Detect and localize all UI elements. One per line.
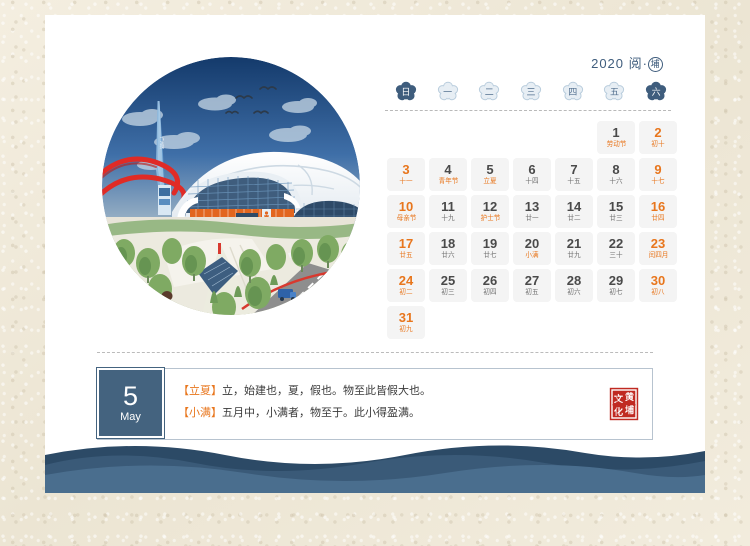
day-number: 1: [612, 126, 619, 140]
day-number: 18: [441, 237, 455, 251]
day-number: 25: [441, 274, 455, 288]
day-cell[interactable]: 13廿一: [513, 195, 551, 228]
day-number: 9: [654, 163, 661, 177]
day-sublabel: 廿二: [567, 214, 580, 222]
day-number: 17: [399, 237, 413, 251]
day-sublabel: 小满: [525, 251, 538, 259]
day-number: 13: [525, 200, 539, 214]
blossom-badge-icon: 五: [602, 81, 626, 104]
day-cell-empty: [471, 121, 509, 154]
day-cell[interactable]: 31初九: [387, 306, 425, 339]
day-number: 15: [609, 200, 623, 214]
cityscape-illustration: 广州塔: [102, 57, 360, 315]
day-cell-empty: [513, 121, 551, 154]
svg-text:埔: 埔: [625, 404, 634, 415]
day-sublabel: 十四: [525, 177, 538, 185]
wave-decoration: [45, 433, 705, 493]
day-cell[interactable]: 20小满: [513, 232, 551, 265]
day-cell-empty: [387, 121, 425, 154]
day-number: 11: [441, 200, 455, 214]
day-sublabel: 廿九: [567, 251, 580, 259]
day-number: 8: [612, 163, 619, 177]
day-sublabel: 廿三: [609, 214, 622, 222]
day-number: 28: [567, 274, 581, 288]
day-number: 16: [651, 200, 665, 214]
day-sublabel: 初二: [399, 288, 412, 296]
day-sublabel: 母亲节: [396, 214, 416, 222]
weekday-header-friday: 五: [596, 79, 634, 105]
day-cell[interactable]: 11十九: [429, 195, 467, 228]
day-cell[interactable]: 16廿四: [639, 195, 677, 228]
day-number: 2: [654, 126, 661, 140]
day-cell[interactable]: 15廿三: [597, 195, 635, 228]
day-number: 4: [444, 163, 451, 177]
weekday-header-monday: 一: [429, 79, 467, 105]
day-sublabel: 十七: [651, 177, 664, 185]
day-cell[interactable]: 28初六: [555, 269, 593, 302]
svg-text:黄: 黄: [625, 391, 634, 402]
day-sublabel: 十五: [567, 177, 580, 185]
day-sublabel: 立夏: [483, 177, 496, 185]
day-cell[interactable]: 2初十: [639, 121, 677, 154]
weekday-header-thursday: 四: [554, 79, 592, 105]
day-sublabel: 廿一: [525, 214, 538, 222]
day-cell[interactable]: 25初三: [429, 269, 467, 302]
note-body: 五月中，小满者，物至于。此小得盈满。: [222, 407, 420, 419]
blossom-badge-icon: 六: [644, 81, 668, 104]
day-number: 31: [399, 311, 413, 325]
weekday-header-wednesday: 三: [512, 79, 550, 105]
day-number: 30: [651, 274, 665, 288]
day-cell[interactable]: 12护士节: [471, 195, 509, 228]
weekday-label: 二: [485, 88, 494, 97]
day-number: 26: [483, 274, 497, 288]
weekday-label: 五: [610, 88, 619, 97]
weekday-label: 三: [527, 88, 536, 97]
day-cell-empty: [555, 121, 593, 154]
note-term: 【立夏】: [178, 385, 222, 397]
svg-text:文: 文: [613, 393, 624, 404]
note-text-container: 【立夏】立，始建也，夏，假也。物至此皆假大也。【小满】五月中，小满者，物至于。此…: [164, 369, 596, 439]
blossom-badge-icon: 一: [436, 81, 460, 104]
day-sublabel: 初七: [609, 288, 622, 296]
day-sublabel: 廿六: [441, 251, 454, 259]
calendar-card: 广州塔: [45, 15, 705, 493]
day-sublabel: 十九: [441, 214, 454, 222]
note-line: 【立夏】立，始建也，夏，假也。物至此皆假大也。: [178, 380, 596, 402]
day-cell[interactable]: 10母亲节: [387, 195, 425, 228]
day-number: 29: [609, 274, 623, 288]
year-char-2: 埔: [648, 57, 663, 72]
month-block: 5 May: [97, 368, 164, 438]
blossom-badge-icon: 二: [477, 81, 501, 104]
year-label: 2020 阅·埔: [385, 55, 675, 73]
day-sublabel: 初八: [651, 288, 664, 296]
month-number: 5: [123, 383, 138, 410]
day-cell[interactable]: 18廿六: [429, 232, 467, 265]
day-sublabel: 护士节: [480, 214, 500, 222]
day-sublabel: 初五: [525, 288, 538, 296]
day-cell[interactable]: 5立夏: [471, 158, 509, 191]
day-cell[interactable]: 6十四: [513, 158, 551, 191]
day-number: 5: [486, 163, 493, 177]
day-sublabel: 廿五: [399, 251, 412, 259]
weekday-label: 六: [652, 88, 661, 97]
seal-stamp: 文 黄 化 埔: [596, 369, 652, 439]
year-number: 2020: [591, 56, 624, 71]
day-cell[interactable]: 9十七: [639, 158, 677, 191]
day-number: 19: [483, 237, 497, 251]
day-cell[interactable]: 23闰四月: [639, 232, 677, 265]
weekday-label: 日: [401, 88, 410, 97]
day-cell[interactable]: 27初五: [513, 269, 551, 302]
day-sublabel: 廿四: [651, 214, 664, 222]
weekday-label: 一: [443, 88, 452, 97]
day-sublabel: 初六: [567, 288, 580, 296]
day-cell[interactable]: 7十五: [555, 158, 593, 191]
day-number: 3: [402, 163, 409, 177]
day-cell[interactable]: 8十六: [597, 158, 635, 191]
day-cell[interactable]: 17廿五: [387, 232, 425, 265]
day-cell-empty: [429, 121, 467, 154]
day-sublabel: 初四: [483, 288, 496, 296]
tower-label-text: 广州塔: [160, 137, 166, 149]
day-sublabel: 初三: [441, 288, 454, 296]
day-number: 27: [525, 274, 539, 288]
weekday-header-row: 日一二三四五六: [385, 79, 675, 105]
day-sublabel: 闰四月: [648, 251, 668, 259]
day-sublabel: 初九: [399, 325, 412, 333]
day-cell[interactable]: 4青年节: [429, 158, 467, 191]
day-number: 24: [399, 274, 413, 288]
blossom-badge-icon: 三: [519, 81, 543, 104]
day-cell[interactable]: 26初四: [471, 269, 509, 302]
day-number: 10: [399, 200, 413, 214]
day-cell[interactable]: 14廿二: [555, 195, 593, 228]
day-cell[interactable]: 29初七: [597, 269, 635, 302]
day-sublabel: 十六: [609, 177, 622, 185]
weekday-header-saturday: 六: [637, 79, 675, 105]
day-sublabel: 初十: [651, 140, 664, 148]
day-number: 12: [483, 200, 497, 214]
weekday-divider: [385, 110, 671, 112]
day-sublabel: 廿七: [483, 251, 496, 259]
day-sublabel: 三十: [609, 251, 622, 259]
day-number: 20: [525, 237, 539, 251]
year-char-1: 阅: [629, 56, 643, 71]
blossom-badge-icon: 四: [561, 81, 585, 104]
days-grid: 1劳动节2初十3十一4青年节5立夏6十四7十五8十六9十七10母亲节11十九12…: [385, 121, 675, 339]
day-number: 23: [651, 237, 665, 251]
blossom-badge-icon: 日: [394, 81, 418, 104]
day-cell[interactable]: 1劳动节: [597, 121, 635, 154]
day-cell[interactable]: 22三十: [597, 232, 635, 265]
weekday-header-tuesday: 二: [470, 79, 508, 105]
day-sublabel: 十一: [399, 177, 412, 185]
day-cell[interactable]: 21廿九: [555, 232, 593, 265]
day-number: 14: [567, 200, 581, 214]
day-number: 6: [528, 163, 535, 177]
day-number: 7: [570, 163, 577, 177]
day-number: 21: [567, 237, 581, 251]
calendar-panel: 2020 阅·埔 日一二三四五六 1劳动节2初十3十一4青年节5立夏6十四7十五…: [385, 55, 675, 339]
note-body: 立，始建也，夏，假也。物至此皆假大也。: [222, 385, 431, 397]
day-sublabel: 青年节: [438, 177, 458, 185]
weekday-label: 四: [568, 88, 577, 97]
day-number: 22: [609, 237, 623, 251]
day-cell[interactable]: 3十一: [387, 158, 425, 191]
note-line: 【小满】五月中，小满者，物至于。此小得盈满。: [178, 402, 596, 424]
month-name: May: [120, 410, 141, 424]
weekday-header-sunday: 日: [387, 79, 425, 105]
middle-dashed-divider: [97, 352, 653, 353]
day-cell[interactable]: 24初二: [387, 269, 425, 302]
day-cell[interactable]: 30初八: [639, 269, 677, 302]
day-cell[interactable]: 19廿七: [471, 232, 509, 265]
svg-text:化: 化: [614, 406, 623, 417]
note-panel: 5 May 【立夏】立，始建也，夏，假也。物至此皆假大也。【小满】五月中，小满者…: [97, 368, 653, 440]
day-sublabel: 劳动节: [606, 140, 626, 148]
note-term: 【小满】: [178, 407, 222, 419]
